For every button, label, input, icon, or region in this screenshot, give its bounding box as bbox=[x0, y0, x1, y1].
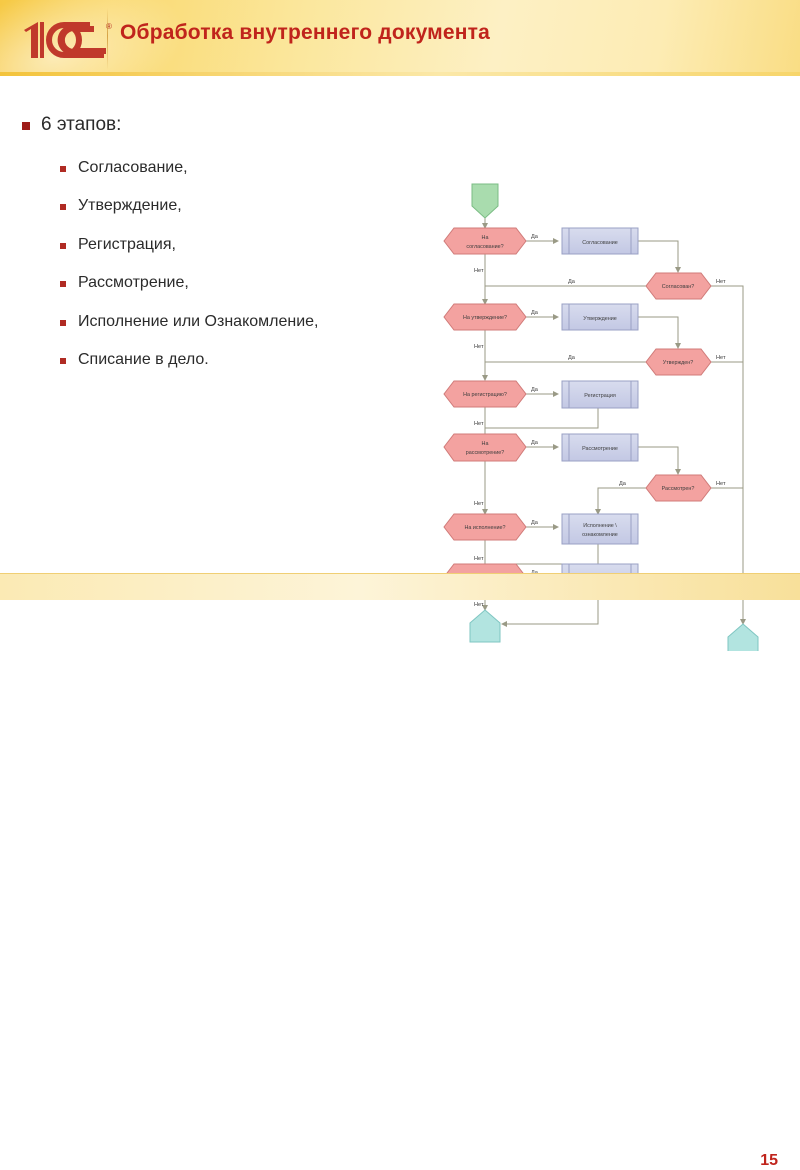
edge-label-no: Нет bbox=[474, 501, 484, 507]
svg-text:Согласован?: Согласован? bbox=[662, 284, 694, 290]
bullet-square-icon bbox=[60, 166, 66, 172]
slide-footer: 15 bbox=[0, 574, 800, 600]
check-utverzhden: Утвержден? bbox=[646, 349, 711, 375]
bullet-square-icon bbox=[60, 358, 66, 364]
end-terminator-right bbox=[728, 624, 758, 651]
edge-label-yes: Да bbox=[531, 387, 539, 393]
edge-label-no: Нет bbox=[716, 355, 726, 361]
check-rassmotren: Рассмотрен? bbox=[646, 475, 711, 501]
process-rassmotrenie: Рассмотрение bbox=[562, 434, 638, 461]
process-soglasovanie: Согласование bbox=[562, 228, 638, 254]
edge-label-no: Нет bbox=[474, 421, 484, 427]
edge-label-yes: Да bbox=[619, 481, 627, 487]
bullet-square-icon bbox=[60, 243, 66, 249]
list-item: Утверждение, bbox=[60, 197, 460, 215]
svg-text:Утверждение: Утверждение bbox=[583, 316, 616, 322]
svg-text:На утверждение?: На утверждение? bbox=[463, 315, 507, 321]
svg-text:согласование?: согласование? bbox=[466, 244, 503, 250]
stage-label: Утверждение, bbox=[78, 197, 182, 215]
page-number: 15 bbox=[760, 1152, 778, 1170]
decision-na-ispolnenie: На исполнение? bbox=[444, 514, 526, 540]
process-registraciya: Регистрация bbox=[562, 381, 638, 408]
edge-label-yes: Да bbox=[568, 279, 576, 285]
edge-label-yes: Да bbox=[531, 440, 539, 446]
stage-label: Регистрация, bbox=[78, 236, 176, 254]
list-item: Списание в дело. bbox=[60, 351, 460, 369]
svg-text:На: На bbox=[482, 441, 489, 447]
edge-label-yes: Да bbox=[568, 355, 576, 361]
svg-text:Утвержден?: Утвержден? bbox=[663, 360, 693, 366]
stages-heading: 6 этапов: bbox=[41, 114, 121, 136]
stage-label: Исполнение или Ознакомление, bbox=[78, 313, 319, 331]
slide-content: 6 этапов: Согласование, Утверждение, Рег… bbox=[0, 76, 800, 574]
svg-text:Согласование: Согласование bbox=[582, 240, 617, 246]
svg-text:На: На bbox=[482, 235, 489, 241]
end-terminator-left bbox=[470, 610, 500, 642]
slide-header: ® Обработка внутреннего документа bbox=[0, 0, 800, 76]
list-item: Согласование, bbox=[60, 159, 460, 177]
stages-heading-row: 6 этапов: bbox=[22, 114, 121, 136]
decision-na-rassmotrenie: На рассмотрение? bbox=[444, 434, 526, 461]
check-soglasovan: Согласован? bbox=[646, 273, 711, 299]
decision-na-soglasovanie: На согласование? bbox=[444, 228, 526, 254]
edge-label-yes: Да bbox=[531, 520, 539, 526]
start-terminator bbox=[472, 184, 498, 218]
stages-list: Согласование, Утверждение, Регистрация, … bbox=[60, 159, 460, 389]
edge-label-no: Нет bbox=[474, 344, 484, 350]
svg-text:Регистрация: Регистрация bbox=[584, 393, 616, 399]
process-utverzhdenie: Утверждение bbox=[562, 304, 638, 330]
edge-label-no: Нет bbox=[474, 268, 484, 274]
svg-text:Рассмотрен?: Рассмотрен? bbox=[662, 486, 695, 492]
process-ispolnenie-oznakomlenie: Исполнение \ ознакомление bbox=[562, 514, 638, 544]
list-item: Регистрация, bbox=[60, 236, 460, 254]
edge-label-yes: Да bbox=[531, 234, 539, 240]
stage-label: Списание в дело. bbox=[78, 351, 209, 369]
stage-label: Рассмотрение, bbox=[78, 274, 189, 292]
edge-label-no: Нет bbox=[474, 556, 484, 562]
edge-label-no: Нет bbox=[716, 279, 726, 285]
svg-text:Исполнение \: Исполнение \ bbox=[583, 523, 617, 529]
svg-text:рассмотрение?: рассмотрение? bbox=[466, 450, 504, 456]
svg-text:Рассмотрение: Рассмотрение bbox=[582, 446, 618, 452]
header-divider bbox=[107, 8, 108, 70]
list-item: Рассмотрение, bbox=[60, 274, 460, 292]
page-title: Обработка внутреннего документа bbox=[120, 21, 760, 45]
decision-na-registraciyu: На регистрацию? bbox=[444, 381, 526, 407]
edge-label-no: Нет bbox=[716, 481, 726, 487]
list-item: Исполнение или Ознакомление, bbox=[60, 313, 460, 331]
bullet-square-icon bbox=[60, 320, 66, 326]
svg-text:На регистрацию?: На регистрацию? bbox=[463, 392, 507, 398]
svg-text:На исполнение?: На исполнение? bbox=[465, 525, 506, 531]
edge-label-no: Нет bbox=[474, 602, 484, 608]
edge-label-yes: Да bbox=[531, 310, 539, 316]
bullet-square-icon bbox=[60, 204, 66, 210]
bullet-square-icon bbox=[22, 122, 30, 130]
svg-text:ознакомление: ознакомление bbox=[582, 532, 618, 538]
decision-na-utverzhdenie: На утверждение? bbox=[444, 304, 526, 330]
stage-label: Согласование, bbox=[78, 159, 188, 177]
bullet-square-icon bbox=[60, 281, 66, 287]
